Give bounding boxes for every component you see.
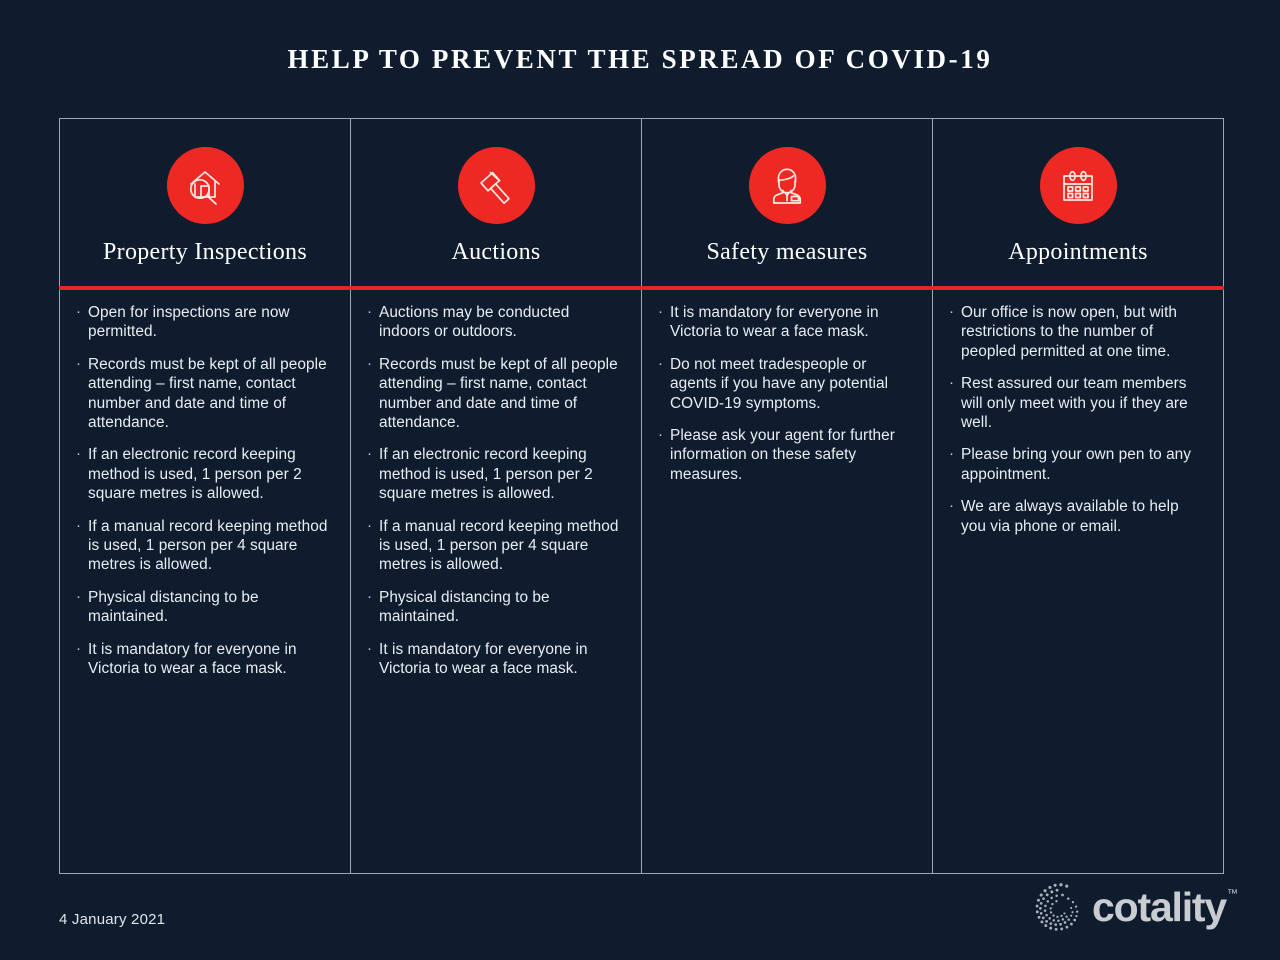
list-item: ·Physical distancing to be maintained. [365,588,621,627]
list-item-text: Please bring your own pen to any appoint… [961,445,1203,484]
list-item: ·Records must be kept of all people atte… [74,355,330,433]
list-item: ·Please ask your agent for further infor… [656,426,912,484]
list-item: ·If an electronic record keeping method … [365,445,621,503]
list-item: ·Auctions may be conducted indoors or ou… [365,303,621,342]
list-item: ·Our office is now open, but with restri… [947,303,1203,361]
bullet-marker: · [74,445,88,503]
bullet-list: ·It is mandatory for everyone in Victori… [642,303,932,497]
bullet-marker: · [947,374,961,432]
house-magnifier-icon [167,147,244,224]
list-item: ·Do not meet tradespeople or agents if y… [656,355,912,413]
trademark-symbol: ™ [1227,888,1238,900]
list-item: ·Physical distancing to be maintained. [74,588,330,627]
bullet-marker: · [365,445,379,503]
list-item-text: We are always available to help you via … [961,497,1203,536]
icon-container [60,147,350,224]
bullet-marker: · [74,355,88,433]
list-item-text: It is mandatory for everyone in Victoria… [379,640,621,679]
column-property-inspections: Property Inspections ·Open for inspectio… [60,119,351,873]
cotality-logo: cotality ™ [1028,876,1238,938]
bullet-marker: · [365,588,379,627]
column-heading: Appointments [933,239,1223,266]
column-heading: Auctions [351,239,641,266]
list-item-text: If a manual record keeping method is use… [88,517,330,575]
list-item-text: Rest assured our team members will only … [961,374,1203,432]
publication-date: 4 January 2021 [59,911,165,928]
list-item: ·If a manual record keeping method is us… [365,517,621,575]
bullet-marker: · [656,303,670,342]
list-item: ·Please bring your own pen to any appoin… [947,445,1203,484]
bullet-marker: · [74,640,88,679]
bullet-list: ·Our office is now open, but with restri… [933,303,1223,549]
list-item: ·If a manual record keeping method is us… [74,517,330,575]
bullet-marker: · [365,303,379,342]
list-item-text: It is mandatory for everyone in Victoria… [88,640,330,679]
list-item: ·Rest assured our team members will only… [947,374,1203,432]
bullet-marker: · [656,426,670,484]
cotality-swirl-icon [1028,876,1090,938]
list-item-text: Open for inspections are now permitted. [88,303,330,342]
list-item-text: Records must be kept of all people atten… [379,355,621,433]
page-title: HELP TO PREVENT THE SPREAD OF COVID-19 [0,44,1280,75]
list-item: ·We are always available to help you via… [947,497,1203,536]
icon-container [351,147,641,224]
list-item: ·It is mandatory for everyone in Victori… [365,640,621,679]
list-item: ·Open for inspections are now permitted. [74,303,330,342]
header-red-divider [59,286,1224,290]
agent-person-icon [749,147,826,224]
list-item-text: Physical distancing to be maintained. [88,588,330,627]
list-item-text: If an electronic record keeping method i… [379,445,621,503]
list-item: ·It is mandatory for everyone in Victori… [656,303,912,342]
bullet-marker: · [947,445,961,484]
calendar-icon [1040,147,1117,224]
bullet-marker: · [656,355,670,413]
list-item-text: Physical distancing to be maintained. [379,588,621,627]
bullet-marker: · [365,640,379,679]
list-item-text: Records must be kept of all people atten… [88,355,330,433]
list-item-text: Our office is now open, but with restric… [961,303,1203,361]
measures-table: Property Inspections ·Open for inspectio… [59,118,1224,874]
bullet-marker: · [74,588,88,627]
bullet-marker: · [947,497,961,536]
column-safety-measures: Safety measures ·It is mandatory for eve… [642,119,933,873]
bullet-marker: · [365,517,379,575]
icon-container [933,147,1223,224]
bullet-marker: · [947,303,961,361]
bullet-marker: · [74,303,88,342]
column-heading: Property Inspections [60,239,350,266]
list-item-text: It is mandatory for everyone in Victoria… [670,303,912,342]
list-item-text: Do not meet tradespeople or agents if yo… [670,355,912,413]
bullet-list: ·Open for inspections are now permitted.… [60,303,350,692]
column-auctions: Auctions ·Auctions may be conducted indo… [351,119,642,873]
list-item-text: If a manual record keeping method is use… [379,517,621,575]
list-item-text: Auctions may be conducted indoors or out… [379,303,621,342]
logo-wordmark: cotality [1092,887,1226,928]
list-item: ·Records must be kept of all people atte… [365,355,621,433]
list-item-text: If an electronic record keeping method i… [88,445,330,503]
bullet-marker: · [74,517,88,575]
list-item-text: Please ask your agent for further inform… [670,426,912,484]
column-appointments: Appointments ·Our office is now open, bu… [933,119,1223,873]
bullet-marker: · [365,355,379,433]
bullet-list: ·Auctions may be conducted indoors or ou… [351,303,641,692]
icon-container [642,147,932,224]
gavel-icon [458,147,535,224]
list-item: ·If an electronic record keeping method … [74,445,330,503]
infographic-page: HELP TO PREVENT THE SPREAD OF COVID-19 P… [0,0,1280,960]
list-item: ·It is mandatory for everyone in Victori… [74,640,330,679]
column-heading: Safety measures [642,239,932,266]
